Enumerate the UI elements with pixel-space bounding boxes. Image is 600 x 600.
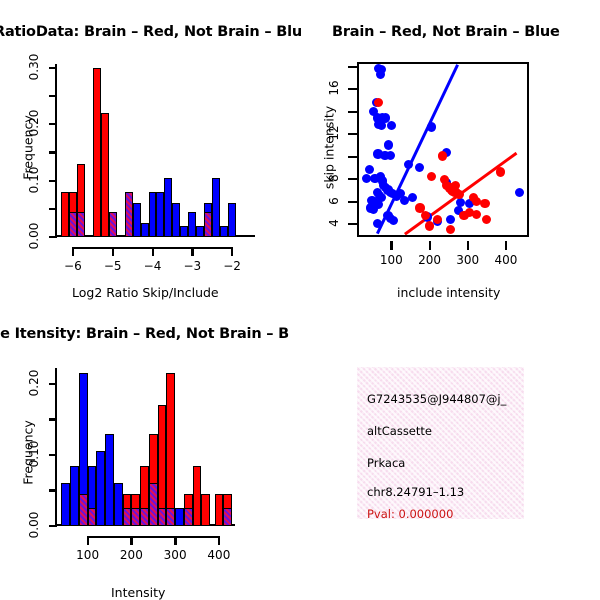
intensity-histogram-y-axis	[55, 368, 57, 526]
y-tick	[49, 151, 57, 153]
histogram-bar-overlap	[184, 508, 193, 526]
histogram-bar-overlap	[79, 494, 88, 526]
scatter-point	[377, 121, 386, 130]
histogram-bar	[114, 483, 123, 526]
x-tick-label: 100	[72, 548, 104, 562]
x-tick	[467, 241, 469, 250]
intensity-histogram-xlabel: Intensity	[111, 585, 165, 600]
histogram-bar	[141, 223, 149, 237]
histogram-bar	[149, 192, 157, 237]
x-tick-label: −2	[216, 259, 248, 273]
scatter-point	[480, 199, 489, 208]
panel-intensity-histogram: ne Itensity: Brain – Red, Not Brain – B …	[0, 300, 300, 600]
histogram-bar	[93, 68, 101, 237]
scatter-xlabel: include intensity	[397, 285, 500, 300]
y-tick-label: 0.30	[27, 52, 41, 82]
scatter-point	[446, 215, 455, 224]
scatter-point-layer	[359, 64, 527, 235]
histogram-bar	[61, 483, 70, 526]
histogram-bar	[215, 494, 224, 526]
histogram-bar-overlap	[166, 508, 175, 526]
histogram-bar	[193, 466, 202, 526]
x-axis-rule	[73, 247, 232, 249]
x-tick-label: −6	[57, 259, 89, 273]
info-line-event-id: G7243535@J944807@j_	[367, 392, 506, 406]
scatter-point	[386, 151, 395, 160]
scatter-plot-area	[357, 62, 529, 237]
scatter-point	[369, 205, 378, 214]
y-tick	[49, 418, 57, 420]
histogram-bar	[175, 508, 184, 526]
y-tick-label: 8	[327, 165, 341, 191]
histogram-bar	[201, 494, 210, 526]
y-tick-label: 0.00	[27, 221, 41, 251]
scatter-point	[433, 215, 442, 224]
y-tick-label: 0.20	[27, 368, 41, 398]
info-line-gene: Prkaca	[367, 456, 405, 470]
x-tick-label: −5	[97, 259, 129, 273]
x-tick-label: 400	[488, 253, 524, 267]
y-tick	[49, 383, 57, 385]
y-tick	[348, 133, 357, 135]
histogram-bar	[70, 466, 79, 526]
y-tick	[49, 525, 57, 527]
x-tick	[429, 241, 431, 250]
scatter-point	[387, 121, 396, 130]
scatter-point	[472, 210, 481, 219]
histogram-bar-overlap	[140, 508, 149, 526]
scatter-point	[425, 221, 434, 230]
x-tick-label: −3	[176, 259, 208, 273]
y-tick	[49, 454, 57, 456]
info-line-locus: chr8.24791–1.13	[367, 485, 464, 499]
info-line-event-type: altCassette	[367, 424, 432, 438]
ratio-histogram-xlabel: Log2 Ratio Skip/Include	[72, 285, 219, 300]
histogram-bar	[220, 226, 228, 237]
histogram-bar	[101, 113, 109, 237]
y-tick	[348, 201, 357, 203]
histogram-bar	[188, 212, 196, 237]
histogram-bar	[125, 192, 133, 237]
y-tick	[348, 223, 357, 225]
panel-ratio-histogram: RatioData: Brain – Red, Not Brain – Blu …	[0, 0, 300, 300]
scatter-point	[384, 140, 393, 149]
x-tick-label: 300	[159, 548, 191, 562]
histogram-bar	[228, 203, 236, 237]
scatter-point	[438, 152, 447, 161]
histogram-bar	[156, 192, 164, 237]
histogram-bar	[61, 192, 69, 237]
histogram-bar	[164, 178, 172, 237]
histogram-bar-overlap	[69, 212, 77, 237]
y-tick	[348, 156, 357, 158]
y-tick	[348, 66, 357, 68]
ratio-histogram-title: RatioData: Brain – Red, Not Brain – Blu	[0, 24, 302, 40]
y-tick	[49, 67, 57, 69]
scatter-point	[427, 122, 436, 131]
y-tick-label: 0.20	[27, 108, 41, 138]
panel-scatter-plot: Brain – Red, Not Brain – Blue skip inten…	[300, 0, 600, 300]
scatter-point	[408, 193, 417, 202]
x-tick	[390, 241, 392, 250]
x-tick-label: 100	[373, 253, 409, 267]
x-axis-rule	[88, 536, 219, 538]
histogram-bar-overlap	[109, 212, 117, 237]
scatter-point	[415, 163, 424, 172]
histogram-bar-overlap	[77, 212, 85, 237]
histogram-bar-overlap	[149, 483, 158, 526]
scatter-point	[376, 70, 385, 79]
y-tick	[348, 178, 357, 180]
y-tick-label: 12	[327, 120, 341, 146]
y-tick-label: 6	[327, 188, 341, 214]
y-tick	[49, 180, 57, 182]
scatter-point	[365, 165, 374, 174]
x-tick-label: 400	[203, 548, 235, 562]
x-tick-label: 200	[115, 548, 147, 562]
histogram-bar	[96, 451, 105, 526]
scatter-point	[404, 160, 413, 169]
x-tick	[505, 241, 507, 250]
histogram-bar-overlap	[131, 508, 140, 526]
histogram-bar-overlap	[204, 212, 212, 237]
scatter-point	[427, 172, 436, 181]
y-tick-label: 0.10	[27, 439, 41, 469]
y-tick	[348, 88, 357, 90]
scatter-point	[451, 181, 460, 190]
x-tick-label: 200	[412, 253, 448, 267]
y-tick	[49, 236, 57, 238]
scatter-point	[459, 211, 468, 220]
y-tick	[49, 123, 57, 125]
x-tick-label: −4	[137, 259, 169, 273]
scatter-title: Brain – Red, Not Brain – Blue	[332, 24, 560, 40]
histogram-bar	[180, 226, 188, 237]
histogram-bar-overlap	[123, 508, 132, 526]
histogram-bar	[172, 203, 180, 237]
y-tick	[49, 208, 57, 210]
y-tick	[348, 111, 357, 113]
scatter-point	[456, 198, 465, 207]
info-line-pvalue: Pval: 0.000000	[367, 507, 453, 519]
y-tick-label: 0.10	[27, 165, 41, 195]
histogram-bar	[196, 226, 204, 237]
scatter-point	[482, 215, 491, 224]
histogram-bar-overlap	[223, 508, 232, 526]
y-tick-label: 0.00	[27, 510, 41, 540]
histogram-bar-overlap	[158, 508, 167, 526]
scatter-point	[496, 167, 505, 176]
histogram-bar	[105, 434, 114, 526]
scatter-point	[374, 98, 383, 107]
scatter-point	[386, 214, 395, 223]
annotation-info-box: G7243535@J944807@j_ altCassette Prkaca c…	[357, 367, 524, 519]
histogram-bar	[133, 203, 141, 237]
scatter-point	[446, 225, 455, 234]
y-tick	[49, 489, 57, 491]
y-tick	[49, 95, 57, 97]
x-tick-label: 300	[450, 253, 486, 267]
histogram-bar	[212, 178, 220, 237]
y-tick-label: 16	[327, 75, 341, 101]
intensity-histogram-title: ne Itensity: Brain – Red, Not Brain – B	[0, 326, 289, 342]
scatter-point	[515, 188, 524, 197]
histogram-bar	[166, 373, 175, 526]
histogram-bar-overlap	[88, 508, 97, 526]
